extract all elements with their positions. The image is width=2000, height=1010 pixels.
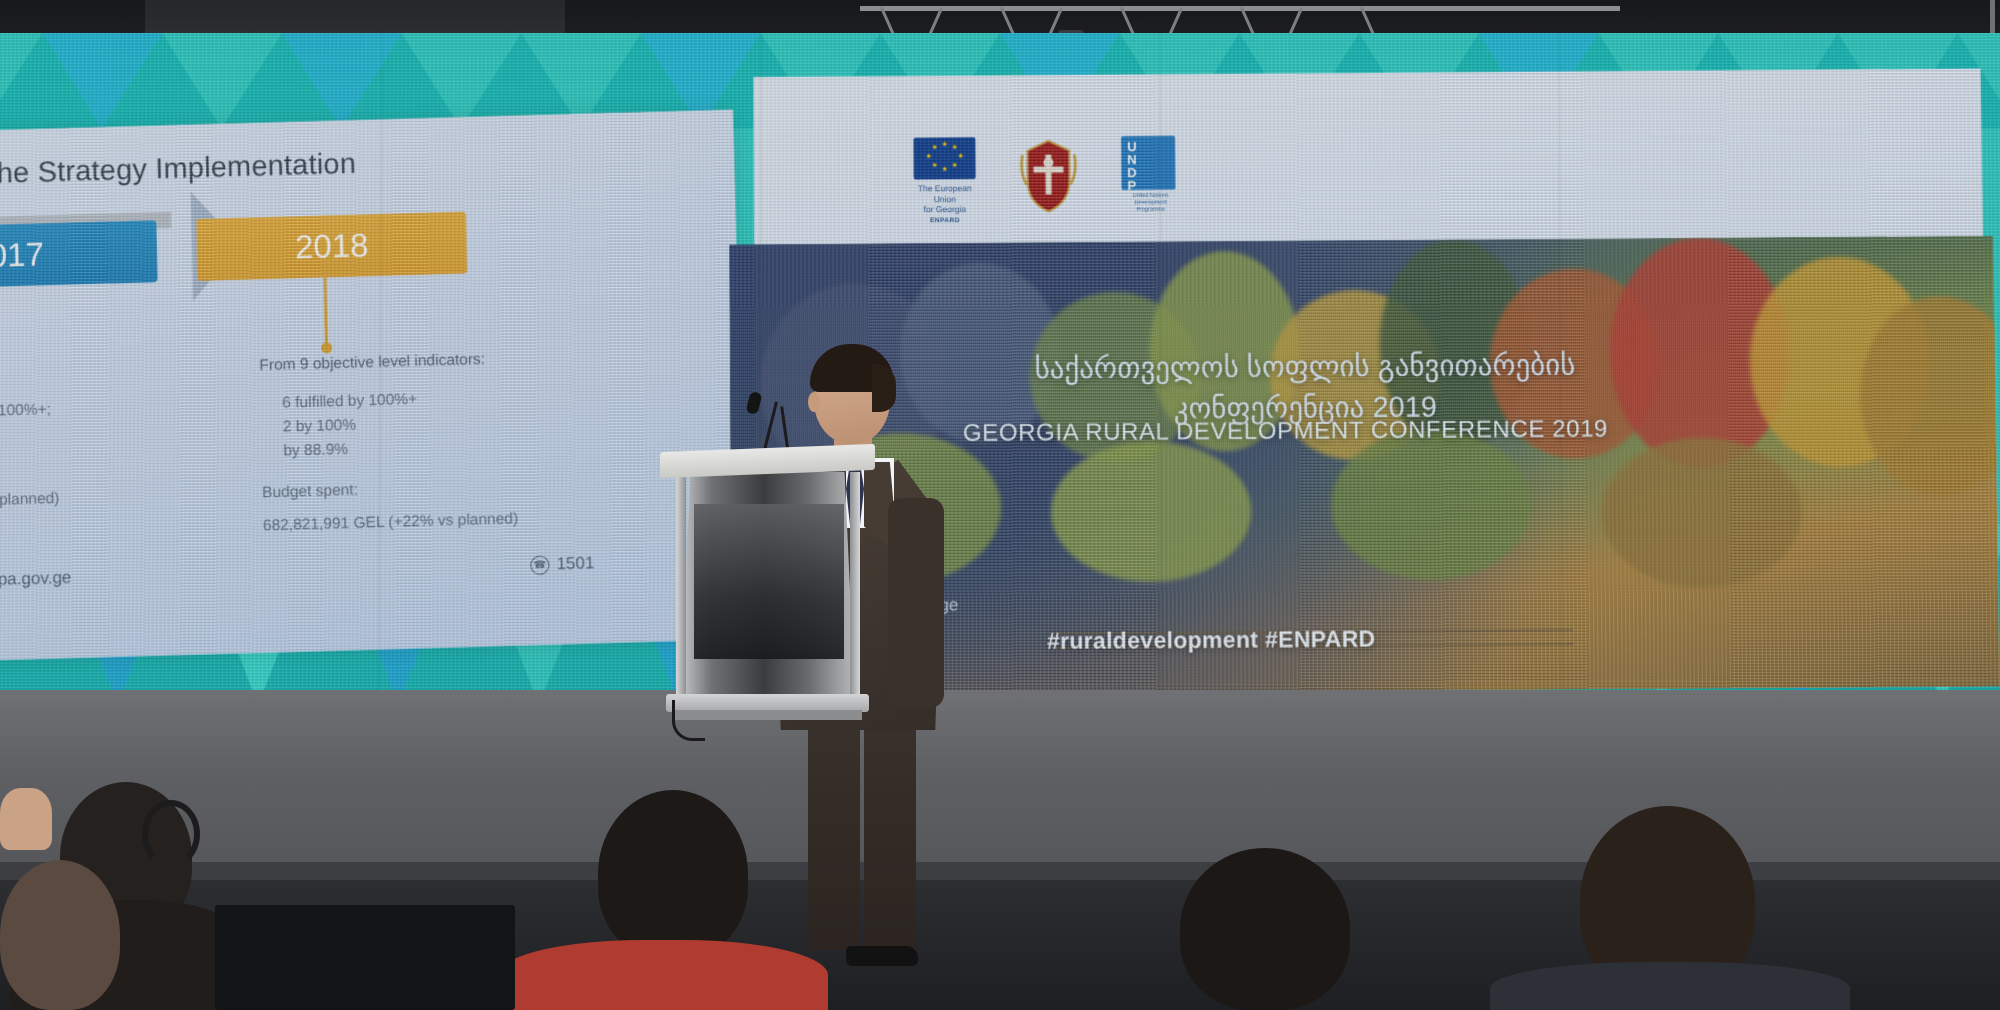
website-link[interactable]: www.mepa.gov.ge bbox=[0, 568, 72, 592]
left-presentation-slide: ults of the Strategy Implementation 2017… bbox=[0, 110, 747, 662]
conference-title-english: GEORGIA RURAL DEVELOPMENT CONFERENCE 201… bbox=[855, 415, 1716, 449]
undp-logo: UNDP United Nations Development Programm… bbox=[1121, 136, 1180, 215]
georgia-coat-of-arms-icon bbox=[1019, 137, 1077, 215]
headset-icon bbox=[142, 800, 200, 868]
speaking-podium bbox=[660, 448, 875, 738]
audience-member-1 bbox=[0, 860, 120, 1010]
led-video-wall: ults of the Strategy Implementation 2017… bbox=[0, 33, 2000, 703]
speaker-legs bbox=[790, 700, 940, 985]
conference-hall-photo: ults of the Strategy Implementation 2017… bbox=[0, 0, 2000, 1010]
column-2018: From 9 objective level indicators: 6 ful… bbox=[259, 345, 593, 538]
speaker-arm bbox=[888, 498, 944, 708]
audience-body-suit bbox=[1490, 962, 1850, 1010]
column-2017-budget-value: GEL (+38.3% vs planned) bbox=[0, 483, 212, 516]
tab-2018[interactable]: 2018 bbox=[196, 212, 467, 281]
left-slide-footer: www.mepa.gov.ge ☎ 1501 bbox=[0, 553, 595, 592]
year-tabs: 2017 2018 bbox=[0, 210, 537, 291]
connector-line-2018 bbox=[323, 277, 328, 345]
column-2017-bullet: lled. bbox=[0, 442, 212, 475]
phone-icon: ☎ bbox=[530, 555, 549, 575]
tab-2017[interactable]: 2017 bbox=[0, 220, 158, 290]
eu-flag-icon: ★ ★ ★ ★ ★ ★ ★ ★ bbox=[913, 137, 975, 179]
eu-logo-caption: The European Union for Georgia ENPARD bbox=[914, 183, 976, 225]
column-2018-budget-label: Budget spent: bbox=[262, 472, 593, 505]
audience-member-4 bbox=[598, 790, 748, 958]
left-slide-title: ults of the Strategy Implementation bbox=[0, 141, 601, 193]
undp-mark-icon: UNDP bbox=[1121, 136, 1175, 190]
phone-number: 1501 bbox=[556, 553, 594, 574]
column-2018-budget-value: 682,821,991 GEL (+22% vs planned) bbox=[263, 505, 594, 538]
undp-logo-caption: United Nations Development Programme bbox=[1122, 193, 1180, 215]
phone-block: ☎ 1501 bbox=[530, 553, 594, 575]
logo-row: ★ ★ ★ ★ ★ ★ ★ ★ The European Union for G… bbox=[913, 135, 1243, 227]
audience-body-red bbox=[498, 940, 828, 1010]
conference-hashtags: #ruraldevelopment #ENPARD bbox=[1047, 625, 1376, 654]
foreground-dark-panel bbox=[215, 905, 515, 1010]
column-2017: level indicators: d by 100% or 100%+; d … bbox=[0, 356, 212, 516]
eu-logo: ★ ★ ★ ★ ★ ★ ★ ★ The European Union for G… bbox=[913, 137, 975, 225]
podium-cable bbox=[672, 700, 705, 741]
audience-member-3 bbox=[1180, 848, 1350, 1010]
raised-hand bbox=[0, 788, 52, 850]
